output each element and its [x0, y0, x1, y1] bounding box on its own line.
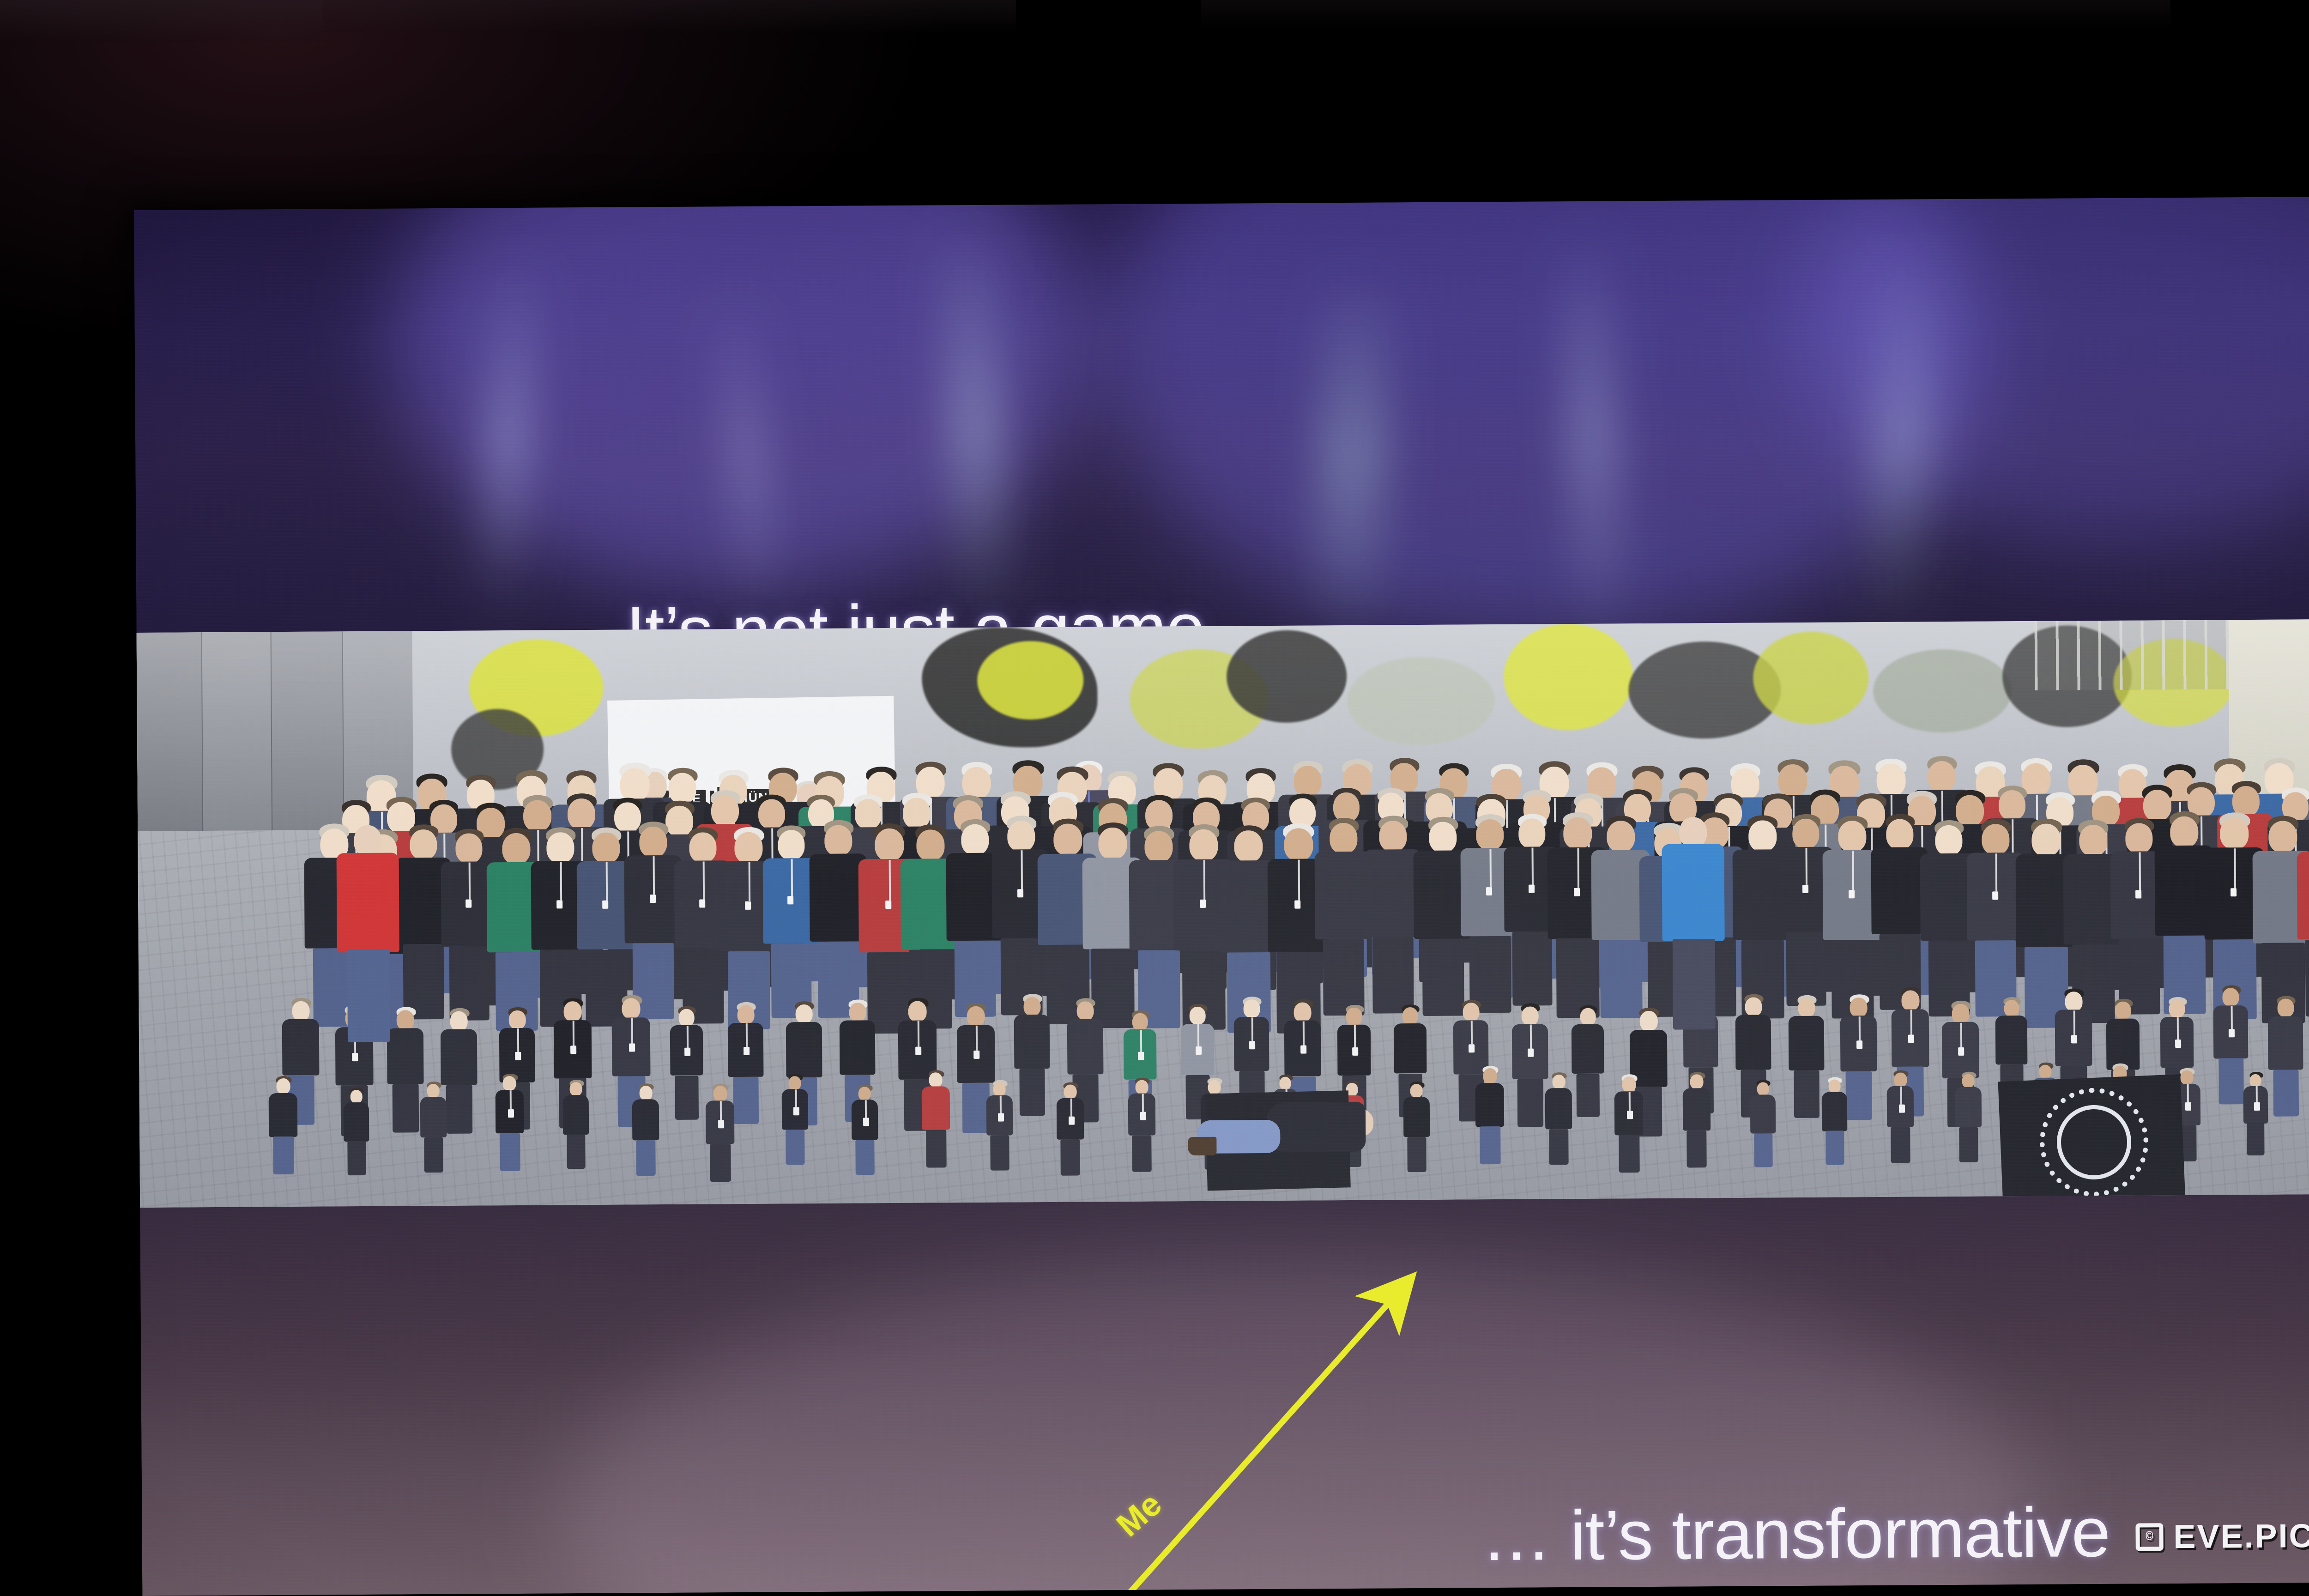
- head: [1294, 1002, 1312, 1022]
- badge: [2230, 888, 2236, 896]
- badge: [863, 1118, 869, 1126]
- lanyard: [2234, 848, 2236, 889]
- head: [1064, 1085, 1077, 1099]
- torso: [632, 1099, 659, 1140]
- legs: [393, 1084, 419, 1132]
- legs: [962, 1083, 990, 1133]
- group-photo: ALTE MÜNZE: [134, 619, 2309, 1208]
- badge: [465, 900, 471, 908]
- torso: [1662, 844, 1724, 941]
- lanyard: [1197, 1024, 1199, 1046]
- head: [450, 1011, 468, 1031]
- lanyard: [746, 1023, 748, 1047]
- head: [2220, 817, 2249, 849]
- badge: [1486, 887, 1492, 895]
- watermark-text: EVE.PICS: [2173, 1517, 2309, 1556]
- legs: [1825, 1130, 1844, 1165]
- legs: [1600, 940, 1643, 1018]
- head: [849, 1003, 866, 1022]
- badge: [718, 1120, 724, 1128]
- head: [668, 773, 696, 804]
- legs: [1891, 1127, 1910, 1163]
- head: [1999, 790, 2025, 820]
- head: [1952, 1004, 1970, 1024]
- head: [1580, 1008, 1596, 1026]
- head: [679, 1009, 695, 1027]
- badge: [1352, 1047, 1358, 1056]
- badge: [1528, 1049, 1534, 1057]
- held-banner-circular-emblem: [1998, 1074, 2186, 1208]
- crowd-person: [495, 1074, 524, 1168]
- torso: [563, 1095, 589, 1135]
- head: [713, 1086, 727, 1101]
- lanyard: [1578, 848, 1580, 888]
- aurora-streak-3: [1312, 271, 1392, 642]
- head: [961, 824, 989, 855]
- crowd-person-lying-down: [1188, 1091, 1405, 1180]
- head: [276, 1078, 290, 1094]
- head: [1563, 817, 1592, 849]
- crowd-person: [1475, 1066, 1504, 1161]
- head: [2115, 1002, 2131, 1020]
- head: [1098, 828, 1127, 859]
- legs: [1686, 1130, 1706, 1167]
- head: [908, 1001, 926, 1022]
- head: [1622, 1076, 1636, 1092]
- badge: [1529, 885, 1535, 893]
- crowd-person: [1788, 995, 1825, 1114]
- lanyard: [653, 856, 655, 895]
- head: [2278, 998, 2294, 1017]
- head: [620, 768, 649, 801]
- watermark: © EVE.PICS: [2135, 1517, 2309, 1556]
- head: [427, 1084, 440, 1098]
- crowd-person-blue-shirt: [1662, 817, 1725, 1030]
- legs: [1480, 1126, 1501, 1164]
- head: [455, 833, 482, 863]
- head: [1346, 1008, 1362, 1026]
- head: [1284, 828, 1313, 861]
- lanyard: [560, 862, 562, 900]
- lanyard: [1142, 1094, 1144, 1112]
- torso: [337, 853, 399, 953]
- head: [929, 1072, 942, 1087]
- head: [1757, 1082, 1769, 1095]
- lanyard: [720, 1101, 722, 1120]
- crowd-person-red-shirt: [336, 825, 400, 1043]
- graffiti-blob: [1347, 657, 1495, 745]
- torso: [2297, 852, 2309, 940]
- head: [351, 1090, 363, 1103]
- torso: [1789, 1016, 1825, 1070]
- legs: [733, 1077, 759, 1124]
- badge: [1469, 1044, 1475, 1052]
- legs: [2247, 1123, 2264, 1155]
- torso: [1822, 1092, 1848, 1131]
- lanyard: [631, 1018, 633, 1043]
- head: [568, 798, 595, 829]
- crowd-person: [632, 1083, 659, 1173]
- crowd-person: [2243, 1072, 2268, 1153]
- lanyard: [1995, 853, 1998, 891]
- lanyard: [1303, 1022, 1305, 1046]
- lanyard: [469, 863, 471, 900]
- crowd-person: [1822, 1077, 1848, 1162]
- lanyard: [1354, 1025, 1356, 1047]
- head: [1053, 823, 1082, 855]
- badge: [1138, 1052, 1144, 1060]
- legs: [855, 1140, 874, 1175]
- legs: [1517, 1079, 1544, 1127]
- badge: [1017, 889, 1023, 897]
- ceiling-panel-center: [323, 0, 1016, 32]
- torso: [282, 1019, 320, 1076]
- graffiti-blob: [1504, 623, 1633, 731]
- lanyard: [1490, 849, 1492, 887]
- legs: [710, 1144, 731, 1182]
- lanyard: [976, 1026, 978, 1051]
- head: [1132, 1013, 1148, 1031]
- legs: [1794, 1070, 1819, 1118]
- badge: [2229, 1029, 2235, 1037]
- crowd-person: [344, 1088, 369, 1173]
- head: [639, 827, 667, 858]
- head: [622, 998, 640, 1019]
- head: [2250, 1074, 2261, 1087]
- torso: [840, 1020, 876, 1075]
- legs: [2218, 1058, 2244, 1104]
- lanyard: [1960, 1023, 1962, 1047]
- legs: [1673, 939, 1716, 1030]
- lanyard: [918, 1021, 919, 1047]
- torso: [1403, 1097, 1430, 1137]
- torso: [1067, 1019, 1104, 1074]
- legs: [347, 1141, 366, 1175]
- head: [1476, 819, 1504, 850]
- slide-subtitle: … it’s transformative: [1481, 1496, 2110, 1573]
- torso: [786, 1022, 822, 1077]
- badge: [602, 901, 608, 909]
- head: [509, 1010, 526, 1029]
- head: [1243, 999, 1260, 1018]
- head: [502, 833, 530, 864]
- head: [824, 825, 852, 856]
- badge: [2185, 1102, 2191, 1111]
- torso: [2268, 1016, 2303, 1070]
- lanyard: [865, 1100, 867, 1118]
- lanyard: [791, 859, 793, 896]
- head: [410, 829, 437, 860]
- ceiling-panel-right: [1201, 0, 2170, 28]
- head: [1748, 820, 1777, 852]
- badge: [515, 1052, 521, 1060]
- lanyard: [1021, 850, 1023, 889]
- badge: [1196, 1046, 1202, 1055]
- badge: [1992, 891, 1998, 900]
- torso: [922, 1086, 950, 1130]
- torso: [1955, 1087, 1982, 1127]
- head: [1552, 1075, 1565, 1089]
- head: [875, 828, 904, 861]
- lanyard: [1859, 1016, 1861, 1041]
- crowd-person: [268, 1076, 297, 1171]
- graffiti-blob: [1873, 649, 2012, 733]
- lanyard: [573, 1021, 574, 1046]
- head: [916, 829, 944, 861]
- head: [1136, 1080, 1148, 1094]
- head: [1190, 1007, 1206, 1025]
- legs: [1323, 939, 1365, 1016]
- legs: [567, 1135, 585, 1169]
- badge: [1200, 900, 1206, 908]
- graffiti-blob: [977, 641, 1084, 719]
- head: [640, 1086, 653, 1100]
- camera-copyright-icon: ©: [2135, 1523, 2163, 1551]
- head: [1410, 1084, 1423, 1098]
- head: [1886, 819, 1913, 849]
- badge: [743, 1047, 750, 1055]
- torso: [1750, 1094, 1776, 1133]
- torso: [2106, 1019, 2140, 1070]
- lanyard: [687, 1026, 689, 1048]
- head: [734, 832, 762, 864]
- legs: [1549, 1129, 1568, 1165]
- lanyard: [1629, 1092, 1631, 1111]
- crowd-person: [706, 1083, 735, 1178]
- conference-room-backdrop: It’s not just a game…: [0, 0, 2309, 1596]
- legs: [636, 1140, 655, 1176]
- scaffold-frame: [2035, 620, 2229, 690]
- head: [1463, 1003, 1480, 1021]
- head: [1522, 1006, 1539, 1025]
- head: [570, 1082, 582, 1096]
- graffiti-blob: [1753, 631, 1869, 725]
- head: [1280, 1077, 1291, 1090]
- legs: [1019, 1069, 1045, 1116]
- lanyard: [2256, 1086, 2258, 1102]
- badge: [1899, 1105, 1905, 1113]
- head: [1798, 998, 1815, 1017]
- head: [689, 832, 716, 863]
- head: [1679, 817, 1707, 847]
- head: [1838, 821, 1866, 852]
- head: [1850, 997, 1867, 1017]
- head: [1690, 1074, 1703, 1089]
- head: [2169, 1000, 2185, 1018]
- ceiling-panel-left: [0, 0, 323, 42]
- lanyard: [1530, 1025, 1532, 1049]
- head: [1745, 997, 1762, 1016]
- lanyard: [1000, 1096, 1002, 1113]
- head: [354, 825, 381, 857]
- torso: [269, 1093, 298, 1137]
- crowd-person: [852, 1084, 878, 1172]
- head: [1294, 766, 1321, 797]
- torso: [1266, 1102, 1366, 1152]
- crowd-person: [1512, 1003, 1549, 1123]
- head: [1982, 824, 2009, 855]
- legs: [1576, 1074, 1600, 1117]
- wall-panel: [134, 632, 203, 831]
- legs: [1407, 1137, 1426, 1172]
- crowd-person: [1886, 1070, 1914, 1160]
- head: [1829, 1079, 1841, 1093]
- head: [1077, 1001, 1094, 1020]
- legs: [786, 1130, 804, 1165]
- head: [778, 830, 804, 860]
- crowd-person: [1014, 994, 1050, 1112]
- torso: [420, 1097, 447, 1137]
- crowd-person: [1750, 1080, 1776, 1164]
- head: [2039, 1065, 2051, 1079]
- head: [2079, 825, 2107, 856]
- badge: [1849, 890, 1855, 898]
- badge: [1627, 1111, 1633, 1119]
- head: [1330, 823, 1357, 854]
- torso: [1014, 1015, 1050, 1069]
- crowd-person: [1128, 1078, 1156, 1169]
- torso: [1475, 1083, 1505, 1127]
- badge: [915, 1047, 921, 1055]
- badge: [570, 1046, 576, 1054]
- head: [1379, 821, 1407, 852]
- head: [1402, 1007, 1418, 1025]
- legs: [424, 1137, 443, 1173]
- lanyard: [1910, 1010, 1912, 1035]
- crowd-person: [1403, 1082, 1430, 1169]
- badge: [1069, 1117, 1075, 1125]
- badge: [793, 1107, 799, 1115]
- lanyard: [517, 1028, 519, 1052]
- head: [1189, 829, 1218, 861]
- head: [1607, 821, 1635, 852]
- torso: [1995, 1016, 2028, 1064]
- head: [2065, 991, 2082, 1011]
- badge: [1958, 1047, 1964, 1056]
- crowd-person: [670, 1006, 703, 1116]
- legs: [1959, 1127, 1978, 1162]
- badge: [2254, 1102, 2260, 1111]
- head: [1429, 822, 1457, 853]
- badge: [2135, 890, 2141, 898]
- legs: [1512, 931, 1553, 1006]
- crowd-person: [1955, 1072, 1982, 1160]
- head: [2125, 823, 2152, 853]
- crowd-person: [986, 1080, 1013, 1167]
- head: [563, 1001, 581, 1022]
- lanyard: [889, 860, 891, 901]
- crowd-person: [1572, 1005, 1604, 1113]
- legs: [446, 1085, 473, 1134]
- badge: [885, 901, 891, 909]
- crowd-person: [420, 1082, 447, 1170]
- head: [1234, 830, 1263, 862]
- legs: [2273, 1070, 2299, 1116]
- badge: [998, 1113, 1004, 1122]
- crowd-person: [2297, 818, 2309, 1010]
- head: [788, 1076, 801, 1090]
- torso: [1735, 1015, 1771, 1070]
- badge: [556, 900, 562, 908]
- head: [711, 795, 739, 826]
- lanyard: [1203, 860, 1206, 900]
- head: [758, 799, 785, 829]
- legs: [2305, 940, 2309, 1017]
- badge: [2175, 1040, 2181, 1048]
- torso: [1545, 1088, 1572, 1129]
- lanyard: [606, 862, 608, 901]
- torso: [1394, 1023, 1427, 1073]
- lanyard: [1900, 1087, 1902, 1105]
- head: [292, 1001, 309, 1021]
- head: [993, 1082, 1006, 1096]
- lanyard: [2231, 1006, 2233, 1029]
- head: [858, 1087, 871, 1100]
- crowd-person: [563, 1080, 589, 1166]
- head: [1894, 1073, 1907, 1087]
- wall-panel: [201, 632, 273, 831]
- head: [2268, 821, 2297, 852]
- badge: [1802, 885, 1808, 893]
- crowd-person: [921, 1070, 950, 1164]
- torso: [441, 1029, 478, 1085]
- graffiti-blob: [1227, 630, 1347, 723]
- legs: [1754, 1133, 1772, 1167]
- badge: [1294, 901, 1300, 909]
- lanyard: [749, 862, 751, 901]
- crowd-person: [781, 1074, 808, 1162]
- head: [2180, 1070, 2193, 1085]
- badge: [1856, 1040, 1862, 1049]
- crowd-person: [1057, 1082, 1084, 1172]
- head: [737, 1005, 755, 1024]
- head: [1023, 997, 1040, 1016]
- lanyard: [510, 1090, 512, 1109]
- head: [2004, 1000, 2019, 1017]
- badge: [973, 1051, 979, 1059]
- badge: [629, 1043, 635, 1052]
- lanyard: [1531, 848, 1533, 885]
- head: [796, 1004, 813, 1023]
- head: [1640, 1011, 1658, 1031]
- legs: [1060, 1140, 1080, 1176]
- head: [592, 833, 620, 864]
- badge: [352, 1053, 358, 1061]
- head: [2222, 988, 2239, 1006]
- legs: [1619, 1135, 1640, 1173]
- head: [1901, 990, 1919, 1010]
- legs: [1845, 1071, 1872, 1120]
- crowd-person: [1682, 1072, 1711, 1164]
- head: [1007, 821, 1035, 852]
- lanyard: [2139, 852, 2141, 890]
- legs: [990, 1135, 1009, 1170]
- badge: [1140, 1112, 1146, 1120]
- legs: [675, 1076, 699, 1120]
- badge: [1574, 888, 1580, 896]
- badge: [1300, 1046, 1306, 1054]
- badge: [787, 896, 793, 904]
- badge: [650, 895, 656, 903]
- legs: [500, 1133, 520, 1171]
- head: [1483, 1068, 1497, 1084]
- head: [967, 1006, 985, 1027]
- crowd-person: [1614, 1074, 1643, 1169]
- badge: [684, 1048, 690, 1056]
- head: [1144, 831, 1173, 862]
- head: [1928, 761, 1955, 792]
- legs: [1372, 937, 1414, 1014]
